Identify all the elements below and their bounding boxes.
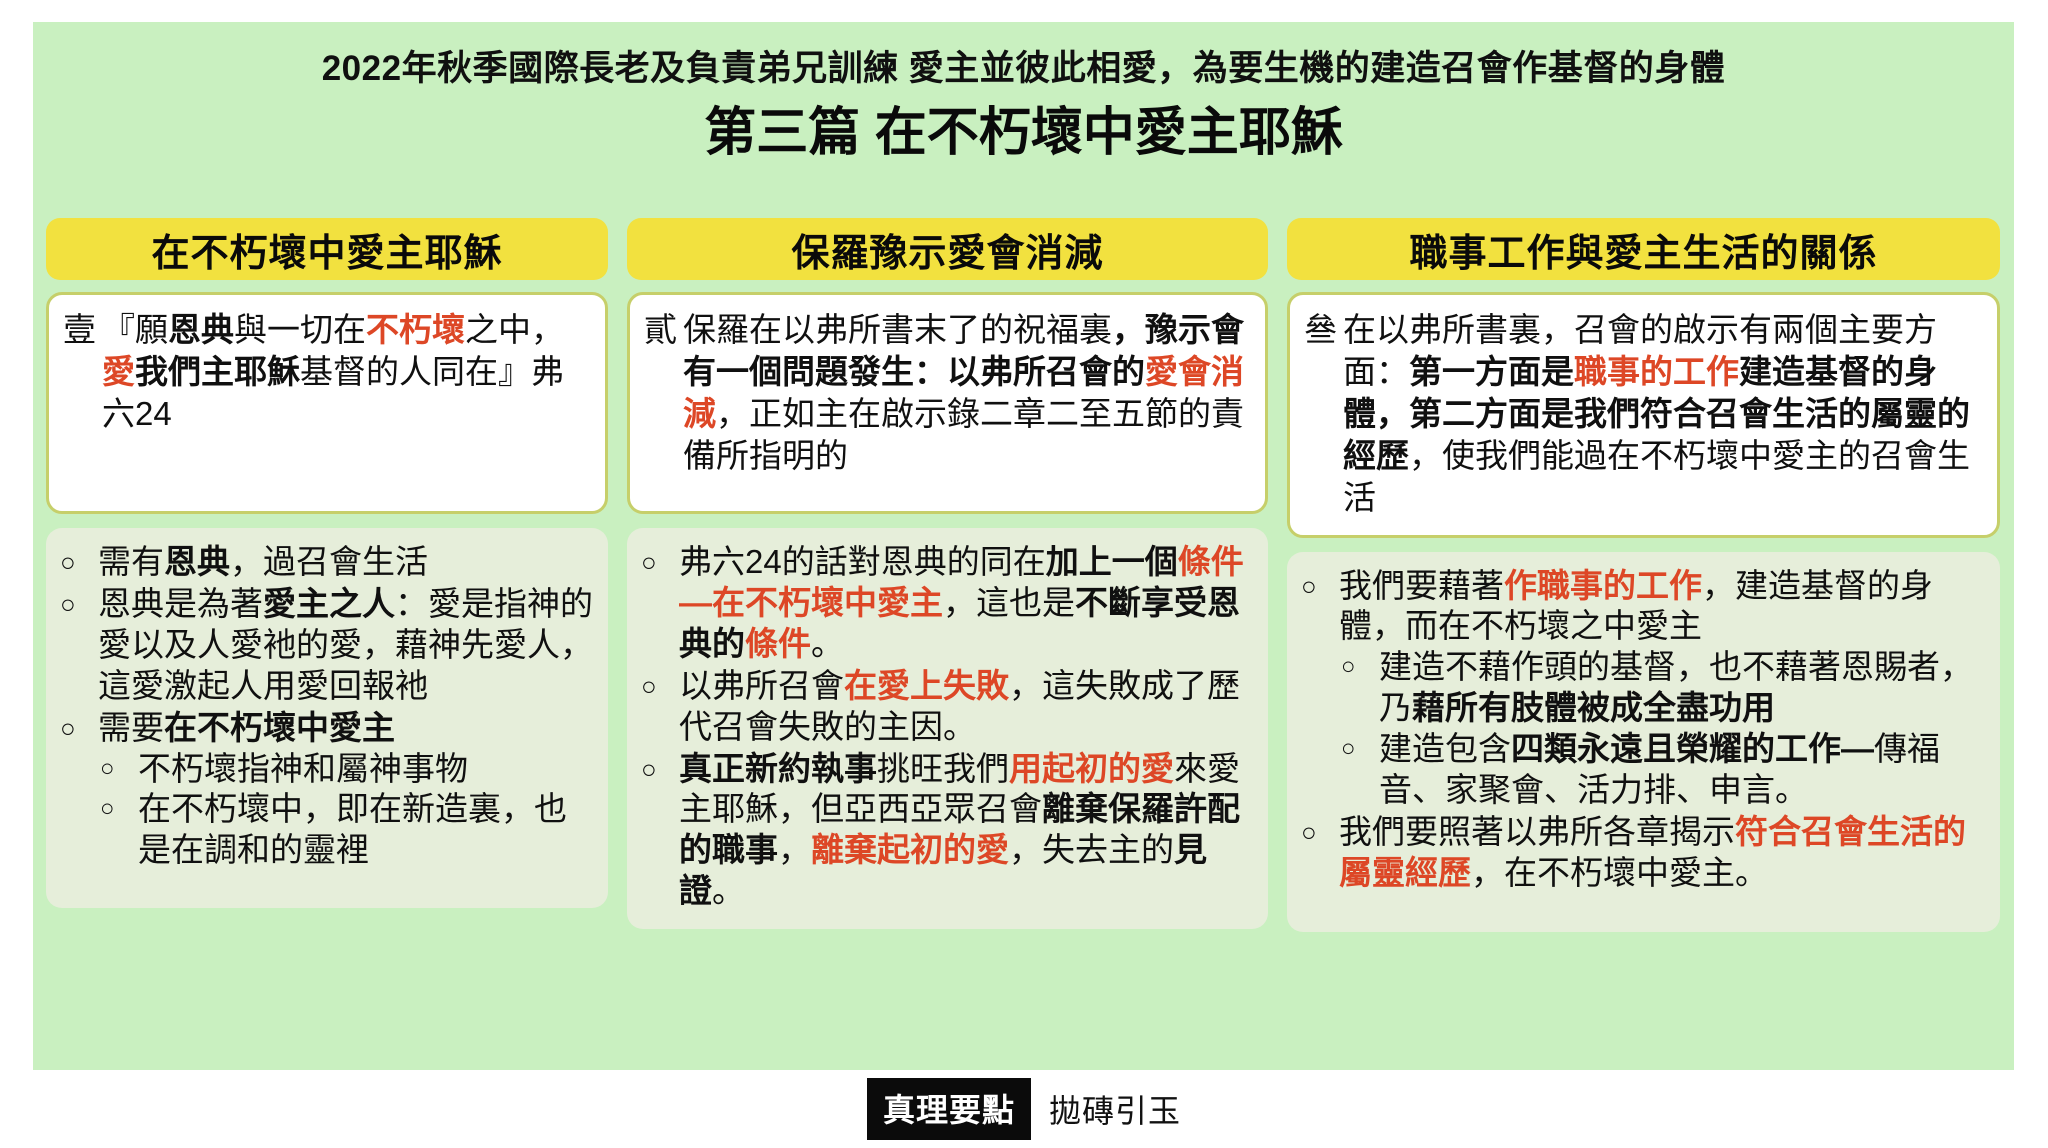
footer-tagline: 拋磚引玉 xyxy=(1049,1086,1181,1132)
column-1-bullets: 需有恩典，過召會生活恩典是為著愛主之人：愛是指神的愛以及人愛衪的愛，藉神先愛人，… xyxy=(46,528,608,908)
column-3-caption: 職事工作與愛主生活的關係 xyxy=(1287,218,2000,280)
bullet-sublist: 建造不藉作頭的基督，也不藉著恩賜者，乃藉所有肢體被成全盡功用建造包含四類永遠且榮… xyxy=(1339,647,1988,811)
bullet-text: 弗六24的話對恩典的同在加上一個條件—在不朽壞中愛主，這也是不斷享受恩典的條件。 xyxy=(679,543,1244,662)
bullet-text: 我們要照著以弗所各章揭示符合召會生活的屬靈經歷，在不朽壞中愛主。 xyxy=(1339,813,1966,891)
column-1-card-text: 『願恩典與一切在不朽壞之中，愛我們主耶穌基督的人同在』弗六24 xyxy=(102,309,589,435)
bullet-item: 需有恩典，過召會生活 xyxy=(58,542,596,583)
bullet-text: 建造包含四類永遠且榮耀的工作—傳福音、家聚會、活力排、申言。 xyxy=(1379,730,1940,808)
column-2-bullets: 弗六24的話對恩典的同在加上一個條件—在不朽壞中愛主，這也是不斷享受恩典的條件。… xyxy=(627,528,1268,929)
bullet-item: 需要在不朽壞中愛主不朽壞指神和屬神事物在不朽壞中，即在新造裏，也是在調和的靈裡 xyxy=(58,708,596,872)
bullet-text: 在不朽壞中，即在新造裏，也是在調和的靈裡 xyxy=(138,790,567,868)
column-2: 保羅豫示愛會消減 貳 保羅在以弗所書末了的祝福裏，豫示會有一個問題發生：以弗所召… xyxy=(627,218,1268,929)
bullet-text: 需有恩典，過召會生活 xyxy=(98,543,428,580)
bullet-item: 我們要藉著作職事的工作，建造基督的身體，而在不朽壞之中愛主建造不藉作頭的基督，也… xyxy=(1299,566,1988,811)
column-3-bullets: 我們要藉著作職事的工作，建造基督的身體，而在不朽壞之中愛主建造不藉作頭的基督，也… xyxy=(1287,552,2000,932)
bullet-text: 真正新約執事挑旺我們用起初的愛來愛主耶穌，但亞西亞眾召會離棄保羅許配的職事，離棄… xyxy=(679,750,1240,910)
bullet-item: 以弗所召會在愛上失敗，這失敗成了歷代召會失敗的主因。 xyxy=(639,666,1256,748)
bullet-list: 弗六24的話對恩典的同在加上一個條件—在不朽壞中愛主，這也是不斷享受恩典的條件。… xyxy=(639,542,1256,912)
bullet-text: 恩典是為著愛主之人：愛是指神的愛以及人愛衪的愛，藉神先愛人，這愛激起人用愛回報衪 xyxy=(98,585,593,704)
slide-footer: 真理要點 拋磚引玉 xyxy=(0,1078,2048,1140)
column-2-card-number: 貳 xyxy=(644,309,677,351)
slide-root: 2022年秋季國際長老及負責弟兄訓練 愛主並彼此相愛，為要生機的建造召會作基督的… xyxy=(0,0,2048,1148)
bullet-subitem: 不朽壞指神和屬神事物 xyxy=(98,749,596,790)
column-1-caption: 在不朽壞中愛主耶穌 xyxy=(46,218,608,280)
bullet-item: 弗六24的話對恩典的同在加上一個條件—在不朽壞中愛主，這也是不斷享受恩典的條件。 xyxy=(639,542,1256,665)
bullet-text: 不朽壞指神和屬神事物 xyxy=(138,750,468,787)
column-3: 職事工作與愛主生活的關係 叄 在以弗所書裏，召會的啟示有兩個主要方面：第一方面是… xyxy=(1287,218,2000,932)
column-2-card-text: 保羅在以弗所書末了的祝福裏，豫示會有一個問題發生：以弗所召會的愛會消減，正如主在… xyxy=(683,309,1249,477)
column-2-card: 貳 保羅在以弗所書末了的祝福裏，豫示會有一個問題發生：以弗所召會的愛會消減，正如… xyxy=(627,292,1268,514)
bullet-text: 建造不藉作頭的基督，也不藉著恩賜者，乃藉所有肢體被成全盡功用 xyxy=(1379,648,1973,726)
bullet-text: 需要在不朽壞中愛主 xyxy=(98,709,395,746)
bullet-subitem: 建造不藉作頭的基督，也不藉著恩賜者，乃藉所有肢體被成全盡功用 xyxy=(1339,647,1988,729)
column-3-card: 叄 在以弗所書裏，召會的啟示有兩個主要方面：第一方面是職事的工作建造基督的身體，… xyxy=(1287,292,2000,538)
page-title: 第三篇 在不朽壞中愛主耶穌 xyxy=(33,105,2014,162)
column-1-card: 壹 『願恩典與一切在不朽壞之中，愛我們主耶穌基督的人同在』弗六24 xyxy=(46,292,608,514)
slide-board: 2022年秋季國際長老及負責弟兄訓練 愛主並彼此相愛，為要生機的建造召會作基督的… xyxy=(33,22,2014,1070)
bullet-text: 我們要藉著作職事的工作，建造基督的身體，而在不朽壞之中愛主 xyxy=(1339,567,1933,645)
bullet-item: 我們要照著以弗所各章揭示符合召會生活的屬靈經歷，在不朽壞中愛主。 xyxy=(1299,812,1988,894)
column-1-card-number: 壹 xyxy=(63,309,96,351)
columns-container: 在不朽壞中愛主耶穌 壹 『願恩典與一切在不朽壞之中，愛我們主耶穌基督的人同在』弗… xyxy=(46,218,2001,932)
bullet-subitem: 建造包含四類永遠且榮耀的工作—傳福音、家聚會、活力排、申言。 xyxy=(1339,729,1988,811)
column-3-card-number: 叄 xyxy=(1304,309,1337,351)
bullet-text: 以弗所召會在愛上失敗，這失敗成了歷代召會失敗的主因。 xyxy=(679,667,1240,745)
bullet-list: 我們要藉著作職事的工作，建造基督的身體，而在不朽壞之中愛主建造不藉作頭的基督，也… xyxy=(1299,566,1988,894)
bullet-subitem: 在不朽壞中，即在新造裏，也是在調和的靈裡 xyxy=(98,789,596,871)
column-2-caption: 保羅豫示愛會消減 xyxy=(627,218,1268,280)
slide-header: 2022年秋季國際長老及負責弟兄訓練 愛主並彼此相愛，為要生機的建造召會作基督的… xyxy=(33,22,2014,162)
bullet-item: 恩典是為著愛主之人：愛是指神的愛以及人愛衪的愛，藉神先愛人，這愛激起人用愛回報衪 xyxy=(58,584,596,707)
bullet-item: 真正新約執事挑旺我們用起初的愛來愛主耶穌，但亞西亞眾召會離棄保羅許配的職事，離棄… xyxy=(639,749,1256,913)
training-subtitle: 2022年秋季國際長老及負責弟兄訓練 愛主並彼此相愛，為要生機的建造召會作基督的… xyxy=(33,50,2014,89)
truth-point-badge: 真理要點 xyxy=(867,1078,1031,1140)
column-3-card-text: 在以弗所書裏，召會的啟示有兩個主要方面：第一方面是職事的工作建造基督的身體，第二… xyxy=(1343,309,1981,519)
column-1: 在不朽壞中愛主耶穌 壹 『願恩典與一切在不朽壞之中，愛我們主耶穌基督的人同在』弗… xyxy=(46,218,608,908)
bullet-sublist: 不朽壞指神和屬神事物在不朽壞中，即在新造裏，也是在調和的靈裡 xyxy=(98,749,596,872)
bullet-list: 需有恩典，過召會生活恩典是為著愛主之人：愛是指神的愛以及人愛衪的愛，藉神先愛人，… xyxy=(58,542,596,871)
